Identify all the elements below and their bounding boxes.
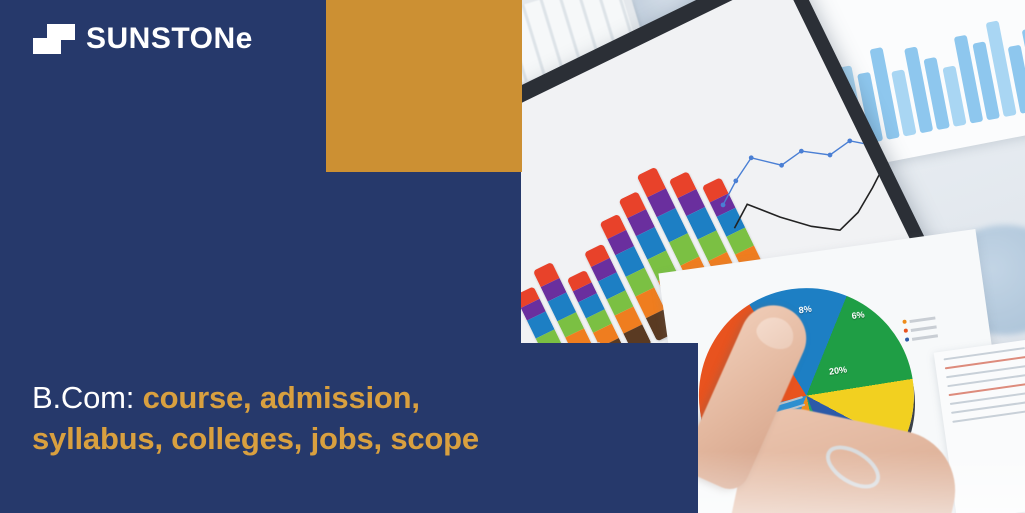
- brand-wordmark-tail: e: [236, 22, 253, 55]
- headline: B.Com: course, admission, syllabus, coll…: [32, 378, 502, 460]
- fingernail: [752, 311, 799, 354]
- headline-lead: B.Com:: [32, 380, 134, 415]
- brand-logo[interactable]: SUNSTONe: [33, 24, 253, 54]
- hand: [715, 300, 965, 513]
- logo-square-bottom: [33, 38, 61, 54]
- headline-highlight-line2: syllabus, colleges, jobs, scope: [32, 421, 479, 456]
- banner-canvas: 20%13%22%9%8%6% SUNSTONe: [0, 0, 1025, 513]
- gold-accent-block: [326, 0, 522, 172]
- brand-wordmark-lead: SUNSTON: [86, 22, 236, 55]
- headline-highlight-line1: course, admission,: [134, 380, 420, 415]
- brand-wordmark: SUNSTONe: [86, 24, 253, 54]
- sunstone-step-logo-icon: [33, 24, 75, 54]
